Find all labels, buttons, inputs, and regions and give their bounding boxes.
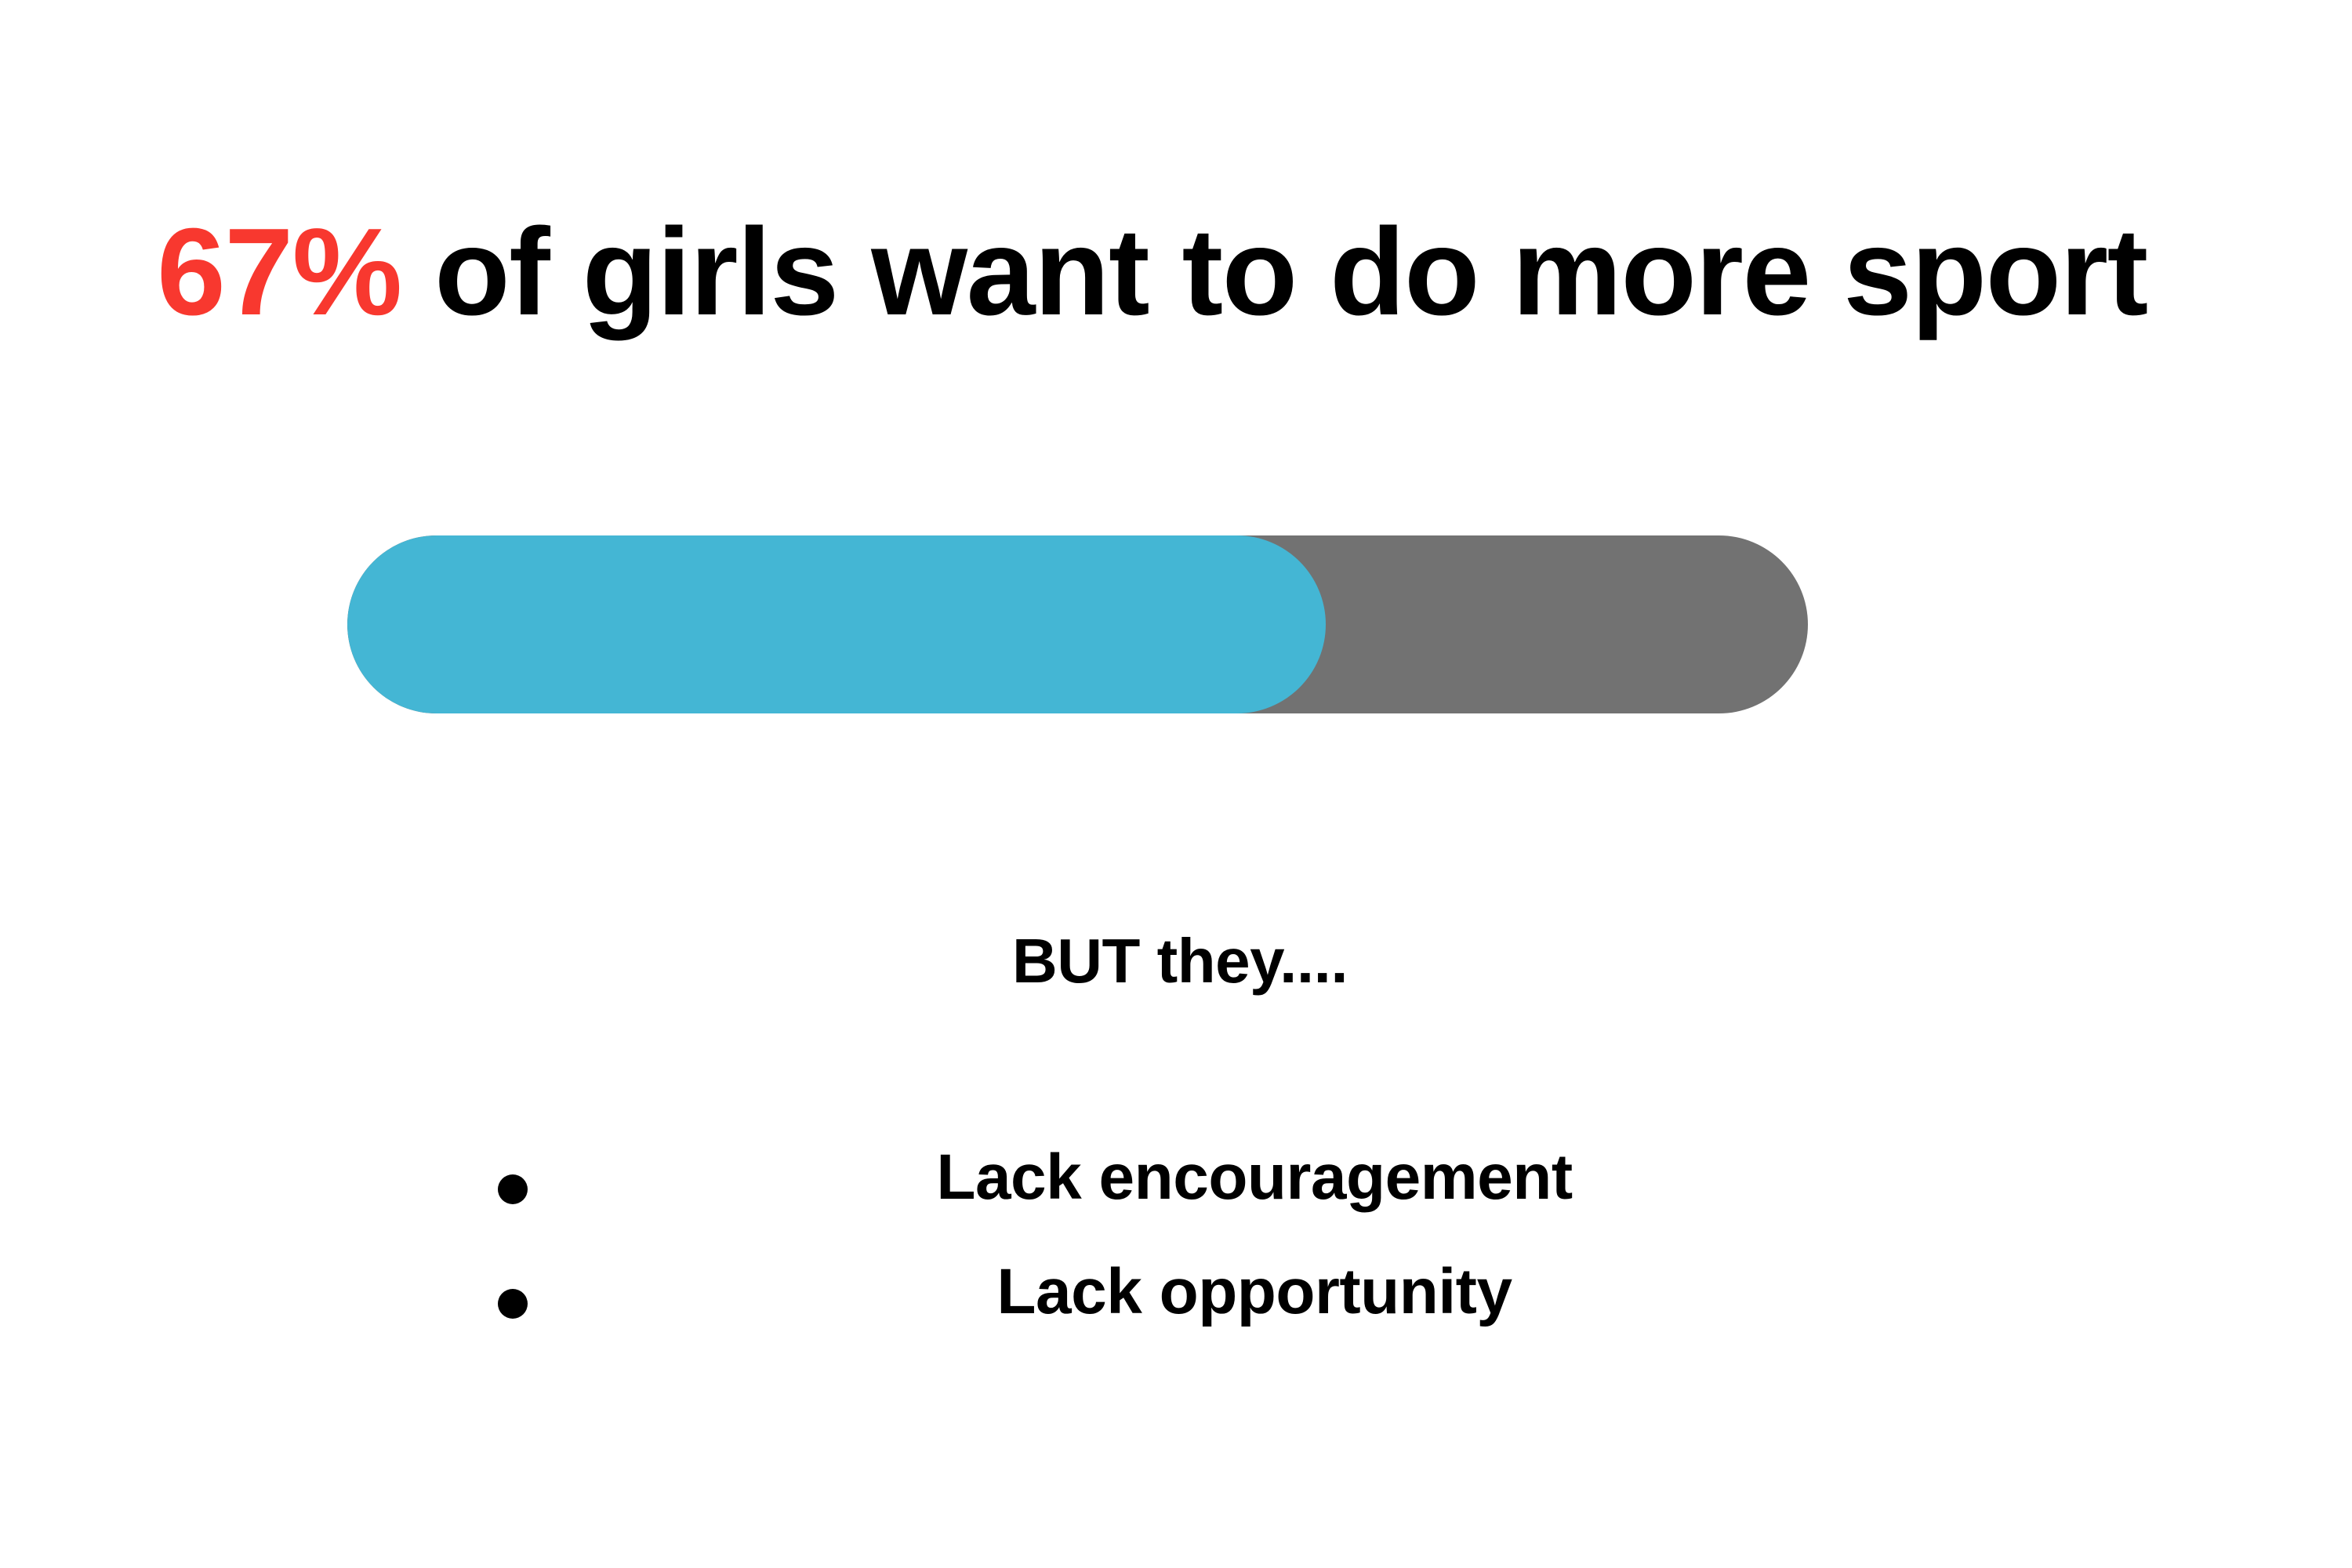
page-title: 67% of girls want to do more sport bbox=[157, 210, 2274, 334]
infographic-slide: 67% of girls want to do more sport BUT t… bbox=[0, 0, 2352, 1568]
list-item-label: Lack opportunity bbox=[0, 1255, 2352, 1329]
list-item: Lack opportunity bbox=[0, 1255, 2352, 1370]
progress-bar-track bbox=[347, 535, 1808, 713]
headline-rest: of girls want to do more sport bbox=[401, 203, 2147, 341]
headline-percent: 67% bbox=[157, 203, 401, 341]
progress-bar-fill bbox=[347, 535, 1326, 713]
list-item-label: Lack encouragement bbox=[0, 1141, 2352, 1214]
list-item: Lack encouragement bbox=[0, 1141, 2352, 1255]
bullet-list: Lack encouragement Lack opportunity bbox=[0, 1141, 2352, 1370]
subheading-but-they: BUT they.... bbox=[0, 930, 2352, 993]
